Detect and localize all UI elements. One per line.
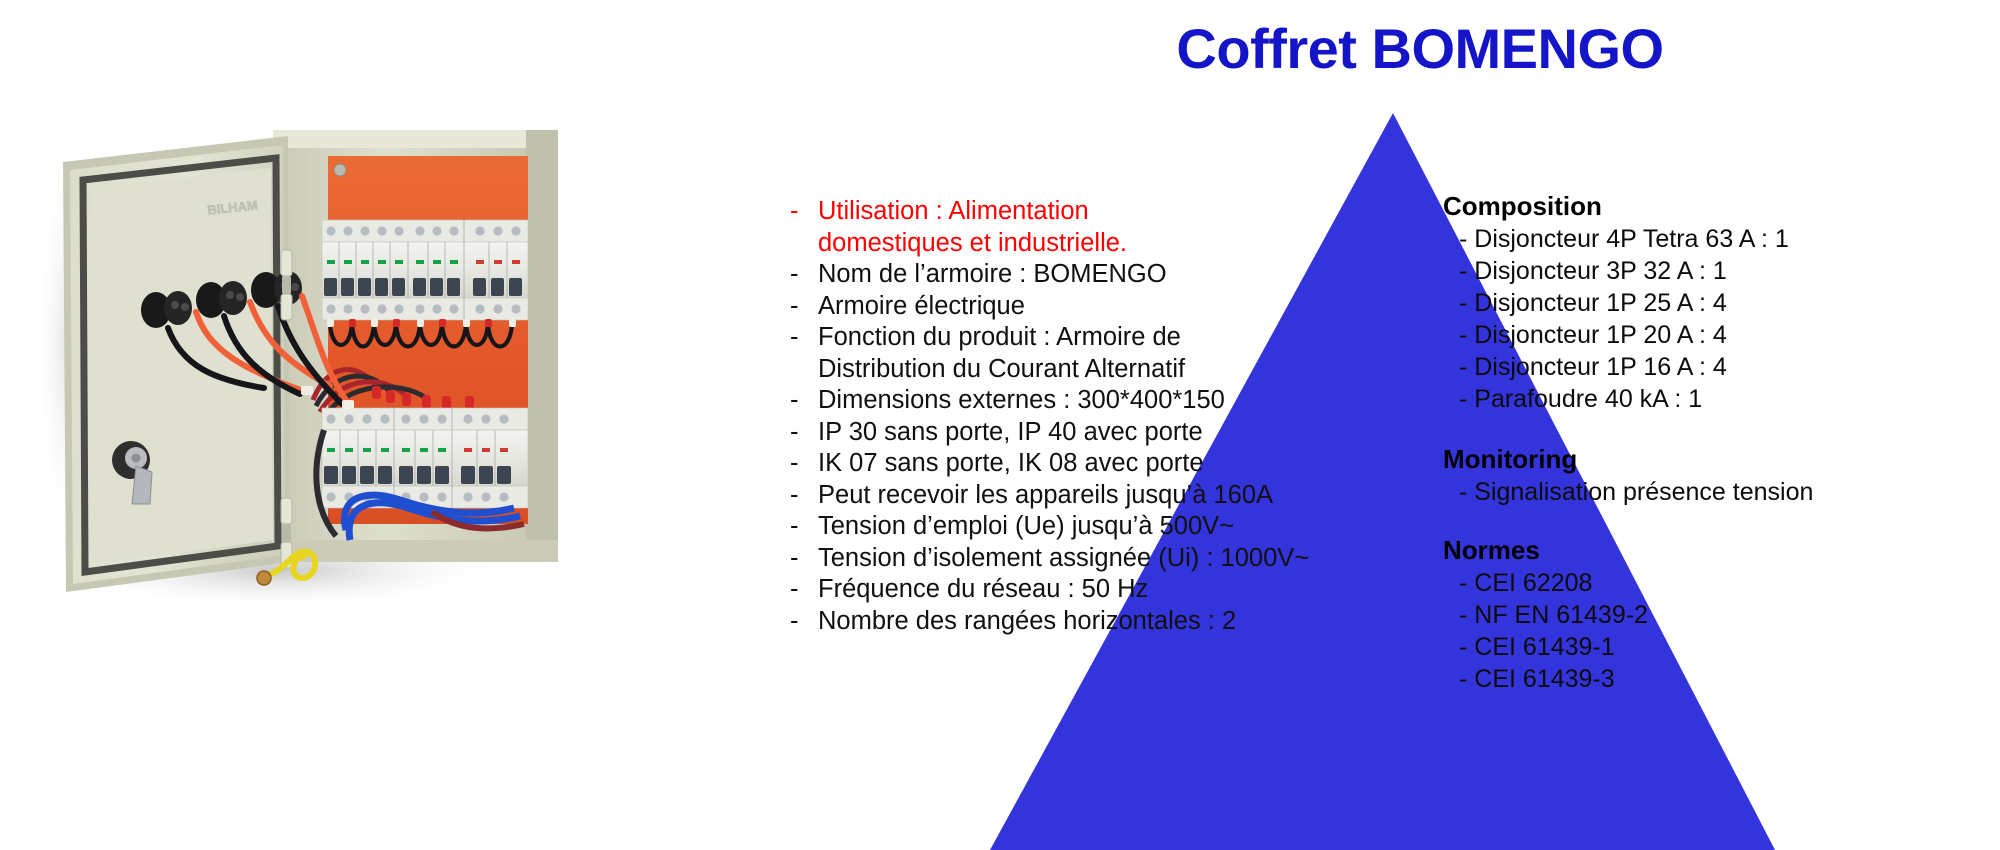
composition-item: - Disjoncteur 1P 16 A : 4: [1443, 351, 1963, 383]
spec-text: Peut recevoir les appareils jusqu’à 160A: [818, 480, 1273, 512]
spec-bullet: -: [790, 448, 818, 480]
spec-bullet: -: [790, 543, 818, 575]
slide-canvas: Coffret BOMENGO: [0, 0, 2000, 850]
spec-bullet: -: [790, 511, 818, 543]
spec-item-11: - Nombre des rangées horizontales : 2: [790, 606, 1210, 638]
spec-bullet: -: [790, 259, 818, 291]
spec-text: Tension d’isolement assignée (Ui) : 1000…: [818, 543, 1309, 575]
spec-text: Dimensions externes : 300*400*150: [818, 385, 1225, 417]
spec-item-7: - Peut recevoir les appareils jusqu’à 16…: [790, 480, 1210, 512]
spec-item-9: - Tension d’isolement assignée (Ui) : 10…: [790, 543, 1210, 575]
monitoring-heading: Monitoring: [1443, 443, 1963, 476]
normes-item: - CEI 62208: [1443, 567, 1963, 599]
spec-item-3: - Fonction du produit : Armoire de Distr…: [790, 322, 1210, 385]
spec-text: IK 07 sans porte, IK 08 avec porte: [818, 448, 1204, 480]
breaker-row-lower: [322, 408, 528, 508]
spec-text: Nombre des rangées horizontales : 2: [818, 606, 1236, 638]
spec-bullet: -: [790, 417, 818, 449]
spec-item-5: - IP 30 sans porte, IP 40 avec porte: [790, 417, 1210, 449]
spec-bullet: -: [790, 480, 818, 512]
spec-bullet: -: [790, 322, 818, 354]
spacer: [1443, 508, 1963, 534]
composition-item: - Disjoncteur 4P Tetra 63 A : 1: [1443, 223, 1963, 255]
spec-text: Fréquence du réseau : 50 Hz: [818, 574, 1148, 606]
spec-bullet: -: [790, 196, 818, 228]
spec-text: Tension d’emploi (Ue) jusqu’à 500V~: [818, 511, 1234, 543]
cabinet-photo-svg: BILHAM: [28, 100, 588, 600]
spec-list: - Utilisation : Alimentation domestiques…: [790, 196, 1210, 637]
spec-text: Armoire électrique: [818, 291, 1025, 323]
spec-bullet: -: [790, 385, 818, 417]
spacer: [1443, 415, 1963, 443]
spec-item-2: - Armoire électrique: [790, 291, 1210, 323]
composition-heading: Composition: [1443, 190, 1963, 223]
spec-text: Nom de l’armoire : BOMENGO: [818, 259, 1167, 291]
spec-item-6: - IK 07 sans porte, IK 08 avec porte: [790, 448, 1210, 480]
spec-item-8: - Tension d’emploi (Ue) jusqu’à 500V~: [790, 511, 1210, 543]
hinge-upper: [281, 250, 292, 320]
composition-item: - Parafoudre 40 kA : 1: [1443, 383, 1963, 415]
cabinet-photo: BILHAM: [28, 100, 588, 600]
breaker-row-upper: [322, 220, 528, 320]
composition-item: - Disjoncteur 3P 32 A : 1: [1443, 255, 1963, 287]
normes-item: - NF EN 61439-2: [1443, 599, 1963, 631]
normes-heading: Normes: [1443, 534, 1963, 567]
spec-bullet: -: [790, 606, 818, 638]
normes-item: - CEI 61439-1: [1443, 631, 1963, 663]
spec-item-1: - Nom de l’armoire : BOMENGO: [790, 259, 1210, 291]
spec-item-4: - Dimensions externes : 300*400*150: [790, 385, 1210, 417]
enclosure-right-side: [526, 130, 558, 555]
spec-text: Fonction du produit : Armoire de Distrib…: [818, 322, 1208, 385]
backplate-screw: [334, 164, 346, 176]
spec-item-0: - Utilisation : Alimentation domestiques…: [790, 196, 1210, 259]
spec-text: IP 30 sans porte, IP 40 avec porte: [818, 417, 1203, 449]
wire-ferrules-upper: [327, 319, 516, 327]
spec-bullet: -: [790, 291, 818, 323]
earth-terminal: [257, 571, 271, 585]
detail-column: Composition - Disjoncteur 4P Tetra 63 A …: [1443, 190, 1963, 695]
page-title: Coffret BOMENGO: [1110, 16, 1730, 81]
composition-item: - Disjoncteur 1P 20 A : 4: [1443, 319, 1963, 351]
composition-item: - Disjoncteur 1P 25 A : 4: [1443, 287, 1963, 319]
monitoring-item: - Signalisation présence tension: [1443, 476, 1963, 508]
normes-item: - CEI 61439-3: [1443, 663, 1963, 695]
enclosure-top-edge: [273, 130, 558, 148]
spec-item-10: - Fréquence du réseau : 50 Hz: [790, 574, 1210, 606]
spec-text: Utilisation : Alimentation domestiques e…: [818, 196, 1178, 259]
spec-bullet: -: [790, 574, 818, 606]
